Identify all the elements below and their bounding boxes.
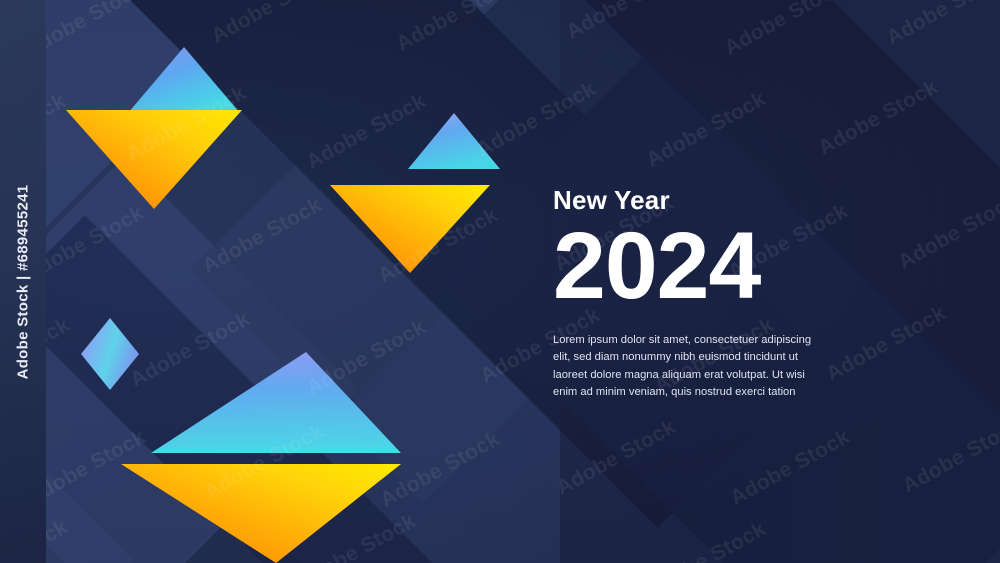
headline-block: New Year 2024 Lorem ipsum dolor sit amet…: [553, 186, 815, 401]
orange-triangle-down-topleft: [66, 110, 242, 209]
body-paragraph: Lorem ipsum dolor sit amet, consectetuer…: [553, 332, 815, 401]
blue-triangle-up-bottom: [151, 352, 401, 453]
blue-gradient-diamond: [81, 318, 139, 395]
blue-triangle-up-center: [408, 113, 500, 169]
blue-triangle-up-topleft: [128, 47, 240, 113]
year-heading: 2024: [553, 223, 815, 310]
orange-triangle-down-bottom: [121, 464, 401, 563]
banner-canvas: New Year 2024 Lorem ipsum dolor sit amet…: [0, 0, 1000, 563]
stock-credit-strip: Adobe Stock | #689455241: [0, 0, 46, 563]
kicker-text: New Year: [553, 186, 815, 215]
orange-triangle-down-center: [330, 185, 490, 273]
credit-label: Adobe Stock | #689455241: [15, 184, 32, 379]
